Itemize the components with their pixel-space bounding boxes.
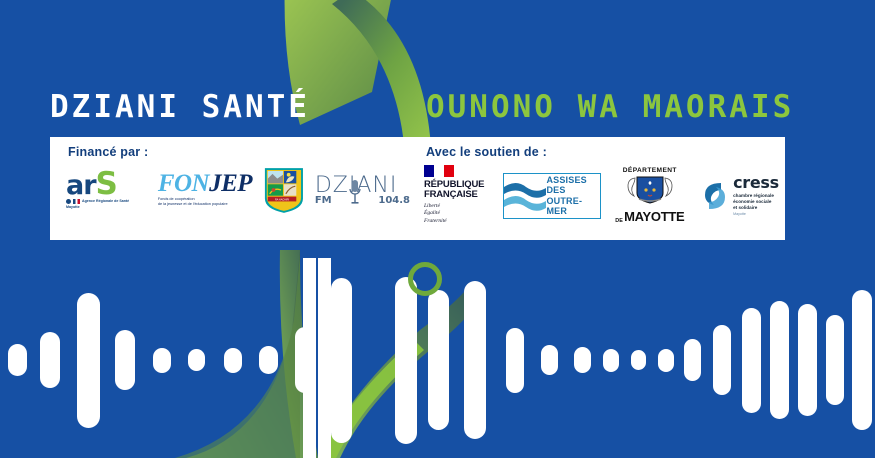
waveform-bar (603, 349, 619, 372)
waveform-bar (658, 349, 674, 372)
microphone-icon (348, 179, 362, 205)
french-flag-icon (424, 165, 454, 177)
mayotte-seahorse-arms-icon (621, 174, 679, 204)
rf-motto-3: Fraternité (424, 218, 493, 226)
green-ring-icon (408, 262, 442, 296)
fonjep-logo: FONJEP Fonds de coopération de la jeunes… (158, 173, 253, 208)
waveform-bar (464, 281, 486, 439)
ars-word-dark: ar (66, 170, 96, 201)
waveform-bar (8, 344, 27, 376)
waveform-bar (541, 345, 558, 375)
waveform-bar (153, 348, 171, 373)
funders-heading: Financé par : (68, 145, 410, 159)
ars-dot-icon (66, 199, 71, 204)
republique-francaise-logo: RÉPUBLIQUE FRANÇAISE Liberté Égalité Fra… (424, 165, 493, 226)
ars-region: Mayotte (66, 205, 148, 209)
dziani-fm-logo: DZIANI FM 104.8 (315, 175, 410, 206)
waveform-bar (770, 301, 789, 419)
wave-mark-icon (504, 174, 546, 216)
dept-top-label: DÉPARTEMENT (611, 167, 690, 174)
waveform-bar (77, 293, 100, 428)
ars-subtitle: Agence Régionale de Santé (82, 199, 129, 203)
dziani-band: FM (315, 195, 332, 206)
assises-line2: OUTRE-MER (546, 196, 599, 217)
departement-de-mayotte-logo: DÉPARTEMENT DEMAYOTTE (611, 167, 690, 224)
cress-region: Mayotte (733, 213, 779, 217)
poster-title: DZIANI SANTÉ OUNONO WA MAORAIS (50, 86, 840, 128)
ars-logo: arS Agence Régionale de Santé Mayotte (66, 171, 148, 209)
rf-line2: FRANÇAISE (424, 190, 493, 200)
waveform-bar (574, 347, 591, 373)
assises-des-outre-mer-logo: ASSISES DES OUTRE-MER (503, 173, 600, 219)
waveform-bar (684, 339, 701, 381)
cress-wordmark: cress (733, 175, 779, 191)
waveform-bar (506, 328, 524, 393)
ars-word-green: S (96, 166, 117, 202)
mayotte-coat-of-arms-icon: RA HACHIRI (263, 165, 305, 215)
waveform-bar (742, 308, 761, 413)
waveform-bar (40, 332, 60, 388)
svg-text:RA HACHIRI: RA HACHIRI (275, 198, 289, 201)
waveform-bar (826, 315, 844, 405)
dept-de-label: DE (615, 218, 623, 224)
supporters-heading: Avec le soutien de : (426, 145, 785, 159)
title-french: DZIANI SANTÉ (50, 89, 310, 125)
fonjep-subtitle-line2: de la jeunesse et de l'éducation populai… (158, 202, 253, 207)
sponsors-banner: Financé par : arS Agence Régionale de Sa… (50, 137, 785, 240)
dept-bottom-label: MAYOTTE (624, 209, 684, 224)
waveform-bar (259, 346, 278, 374)
fonjep-word-light: FON (158, 170, 209, 197)
waveform-divider (303, 258, 316, 458)
title-mahorais: OUNONO WA MAORAIS (426, 89, 794, 125)
cress-logo: cress chambre régionale économie sociale… (699, 175, 785, 217)
waveform-bar (428, 290, 449, 430)
waveform-bar (224, 348, 242, 373)
audio-waveform (0, 258, 875, 458)
waveform-bar (395, 277, 417, 444)
waveform-bar (115, 330, 135, 390)
waveform-bar (852, 290, 872, 430)
waveform-bar (188, 349, 205, 371)
assises-line1: ASSISES DES (546, 175, 599, 196)
dziani-frequency: 104.8 (378, 195, 410, 206)
waveform-bar (798, 304, 817, 416)
funders-column: Financé par : arS Agence Régionale de Sa… (50, 137, 410, 240)
poster-canvas: DZIANI SANTÉ OUNONO WA MAORAIS Financé p… (0, 0, 875, 458)
supporters-column: Avec le soutien de : RÉPUBLIQUE FRANÇAIS… (410, 137, 785, 240)
cress-swirl-icon (699, 179, 729, 213)
cress-sub-line3: et solidaire (733, 205, 779, 211)
waveform-divider (318, 258, 331, 458)
waveform-bar (631, 350, 646, 370)
french-flag-icon (73, 199, 80, 204)
waveform-bar (331, 278, 352, 443)
fonjep-word-dark: JEP (209, 170, 252, 197)
rf-motto-2: Égalité (424, 210, 493, 218)
waveform-bar (713, 325, 731, 395)
